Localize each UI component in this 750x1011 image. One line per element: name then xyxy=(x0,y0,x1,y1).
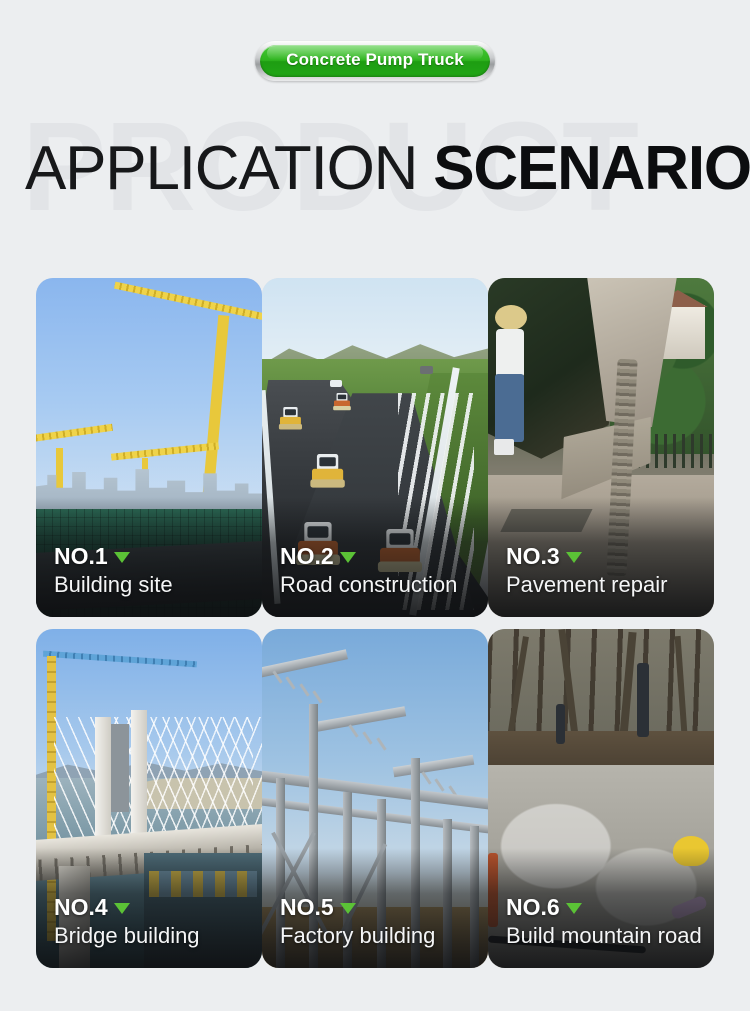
badge-outer-frame: Concrete Pump Truck xyxy=(255,41,495,81)
scenario-card-grid: NO.1 Building site xyxy=(36,278,714,968)
triangle-down-icon xyxy=(340,552,356,563)
card-number-row-3: NO.3 xyxy=(506,544,702,568)
card-caption-4: Bridge building xyxy=(54,923,250,948)
card-number-1: NO.1 xyxy=(54,544,108,568)
card-number-row-5: NO.5 xyxy=(280,895,476,919)
scenario-card-4[interactable]: NO.4 Bridge building xyxy=(36,629,262,968)
page-title-light: APPLICATION xyxy=(25,134,433,203)
section-heading-block: PRODUCT APPLICATION SCENARIOS xyxy=(0,108,750,248)
card-number-6: NO.6 xyxy=(506,895,560,919)
scenario-card-6[interactable]: NO.6 Build mountain road xyxy=(488,629,714,968)
page-title-bold: SCENARIOS xyxy=(433,134,750,203)
card-number-row-2: NO.2 xyxy=(280,544,476,568)
application-scenarios-page: Concrete Pump Truck PRODUCT APPLICATION … xyxy=(0,0,750,1011)
card-caption-2: Road construction xyxy=(280,572,476,597)
triangle-down-icon xyxy=(114,552,130,563)
card-number-4: NO.4 xyxy=(54,895,108,919)
card-label-6: NO.6 Build mountain road xyxy=(506,895,702,948)
scenario-card-2[interactable]: NO.2 Road construction xyxy=(262,278,488,617)
triangle-down-icon xyxy=(566,903,582,914)
triangle-down-icon xyxy=(566,552,582,563)
card-label-5: NO.5 Factory building xyxy=(280,895,476,948)
scenario-card-5[interactable]: NO.5 Factory building xyxy=(262,629,488,968)
card-number-row-1: NO.1 xyxy=(54,544,250,568)
card-label-2: NO.2 Road construction xyxy=(280,544,476,597)
card-label-4: NO.4 Bridge building xyxy=(54,895,250,948)
scenario-card-3[interactable]: NO.3 Pavement repair xyxy=(488,278,714,617)
card-caption-6: Build mountain road xyxy=(506,923,702,948)
card-number-row-4: NO.4 xyxy=(54,895,250,919)
card-label-3: NO.3 Pavement repair xyxy=(506,544,702,597)
badge-label: Concrete Pump Truck xyxy=(286,50,464,69)
triangle-down-icon xyxy=(340,903,356,914)
triangle-down-icon xyxy=(114,903,130,914)
badge-inner-pill: Concrete Pump Truck xyxy=(260,45,490,77)
card-number-5: NO.5 xyxy=(280,895,334,919)
card-number-3: NO.3 xyxy=(506,544,560,568)
card-caption-5: Factory building xyxy=(280,923,476,948)
product-badge[interactable]: Concrete Pump Truck xyxy=(0,41,750,81)
scenario-card-1[interactable]: NO.1 Building site xyxy=(36,278,262,617)
card-caption-3: Pavement repair xyxy=(506,572,702,597)
card-number-2: NO.2 xyxy=(280,544,334,568)
card-number-row-6: NO.6 xyxy=(506,895,702,919)
card-caption-1: Building site xyxy=(54,572,250,597)
card-label-1: NO.1 Building site xyxy=(54,544,250,597)
page-title: APPLICATION SCENARIOS xyxy=(25,138,750,200)
